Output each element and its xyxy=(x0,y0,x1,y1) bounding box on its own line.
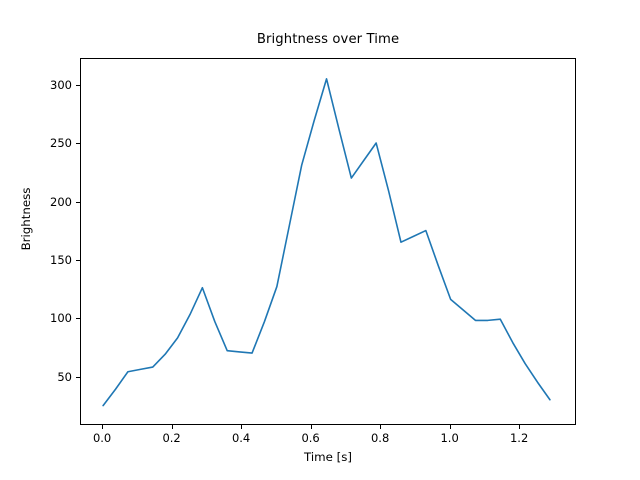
x-tick-label: 1.0 xyxy=(440,431,458,445)
y-tick-mark xyxy=(76,260,80,261)
x-tick-label: 0.2 xyxy=(162,431,180,445)
x-tick-mark xyxy=(102,425,103,429)
y-tick-label: 100 xyxy=(50,311,72,325)
x-tick-label: 0.6 xyxy=(301,431,319,445)
x-tick-mark xyxy=(519,425,520,429)
y-tick-label: 250 xyxy=(50,136,72,150)
x-tick-label: 1.2 xyxy=(510,431,528,445)
x-tick-mark xyxy=(241,425,242,429)
x-tick-label: 0.4 xyxy=(232,431,250,445)
y-tick-label: 300 xyxy=(50,78,72,92)
y-tick-mark xyxy=(76,85,80,86)
x-tick-label: 0.0 xyxy=(93,431,111,445)
y-tick-mark xyxy=(76,143,80,144)
plot-area xyxy=(80,58,576,425)
y-tick-label: 50 xyxy=(57,370,72,384)
x-tick-mark xyxy=(172,425,173,429)
x-tick-label: 0.8 xyxy=(371,431,389,445)
x-tick-mark xyxy=(450,425,451,429)
line-plot-svg xyxy=(81,59,577,426)
x-tick-mark xyxy=(311,425,312,429)
x-tick-mark xyxy=(380,425,381,429)
y-tick-label: 150 xyxy=(50,253,72,267)
x-axis-tick-labels: 0.00.20.40.60.81.01.2 xyxy=(0,425,640,449)
y-tick-mark xyxy=(76,318,80,319)
y-tick-label: 200 xyxy=(50,195,72,209)
data-series-line xyxy=(103,79,550,406)
page-title: Brightness over Time xyxy=(80,32,576,47)
y-axis-tick-labels: 50100150200250300 xyxy=(20,58,72,425)
x-axis-label: Time [s] xyxy=(80,450,576,464)
y-tick-mark xyxy=(76,377,80,378)
y-tick-mark xyxy=(76,202,80,203)
matplotlib-figure: Brightness over Time Brightness 50100150… xyxy=(0,0,640,480)
